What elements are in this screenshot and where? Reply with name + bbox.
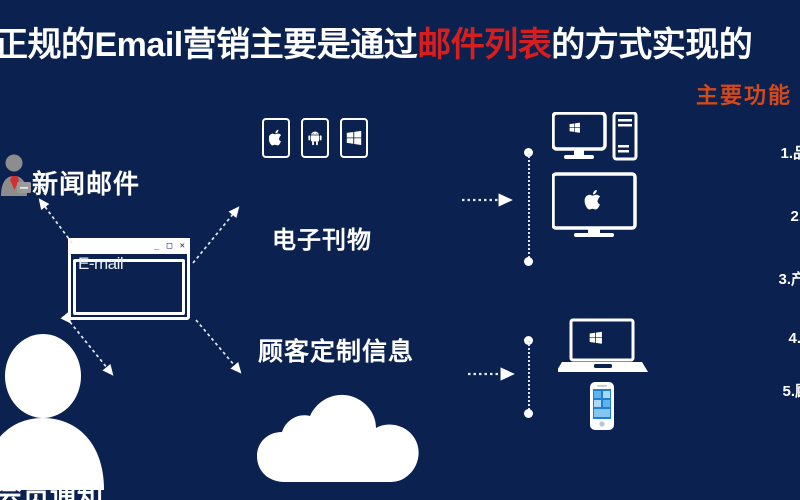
arrow-email-to-custom [196,320,240,372]
email-window-label: E-mail [78,254,123,274]
main-function-heading: 主要功能 [696,78,792,110]
android-icon [307,130,323,146]
windows-phone-icon [590,382,614,430]
windows-laptop-icon [558,320,648,372]
cloud-icon [255,382,445,497]
headline-text-before: 正规的Email营销主要是通过 [0,26,417,64]
label-news-mail: 新闻邮件 [32,164,140,201]
tile-apple[interactable] [262,118,290,158]
label-e-publication: 电子刊物 [272,220,372,255]
rail-dot [524,257,533,266]
connector-rail-top [524,148,533,266]
rail-dot [524,409,533,418]
list-item: 6.网站 [648,439,800,460]
label-custom-info: 顾客定制信息 [258,332,414,368]
apple-imac-monitor-icon [553,174,635,237]
user-silhouette-icon [0,330,108,490]
arrow-email-to-news [40,200,72,243]
window-titlebar: _ □ ✕ [68,238,190,254]
apple-icon [269,129,284,147]
tile-android[interactable] [301,118,329,158]
slide-canvas: 正规的Email营销主要是通过邮件列表的方式实现的 主要功能 1.品牌形 2.资… [0,0,800,500]
headline-text-after: 的方式实现的 [551,26,752,64]
window-controls[interactable]: _ □ ✕ [154,242,186,251]
windows-icon [346,130,362,146]
device-cluster-mobile [558,318,668,438]
page-title: 正规的Email营销主要是通过邮件列表的方式实现的 [0,28,752,62]
email-browser-window[interactable]: _ □ ✕ E-mail [68,238,190,320]
platform-tiles [262,118,368,158]
list-item: 5.顾客关 [648,380,800,401]
tile-windows[interactable] [340,118,368,158]
rail-line [528,153,530,261]
rail-line [528,341,530,413]
windows-desktop-monitor-icon [553,113,605,159]
list-item: 4.顾客服 [648,327,800,348]
pc-tower-icon [614,113,636,159]
person-with-tie-icon [0,152,34,196]
connector-rail-bottom [524,336,533,418]
headline-highlight: 邮件列表 [417,26,551,64]
device-cluster-desktop [552,112,672,272]
arrow-email-to-epub [193,208,238,263]
